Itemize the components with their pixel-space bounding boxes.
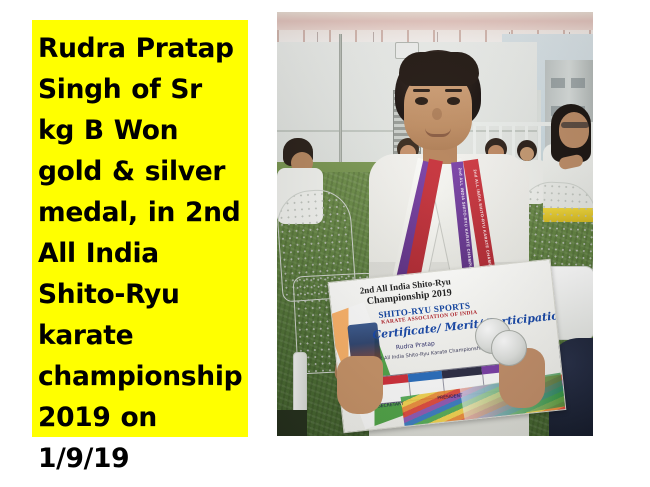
woman-face	[559, 112, 589, 148]
silver-medal	[491, 330, 527, 366]
canopy-ceiling	[277, 12, 593, 32]
certificate-recipient-name: Rudra Pratap	[396, 340, 436, 351]
boy-eyebrow	[413, 89, 430, 92]
boy-hand-left	[337, 356, 383, 414]
caption-panel: Rudra Pratap Singh of Sr kg B Won gold &…	[32, 20, 248, 437]
boy-eye	[415, 97, 428, 105]
boy-hair-fringe	[399, 52, 479, 86]
caption-text: Rudra Pratap Singh of Sr kg B Won gold &…	[38, 28, 244, 479]
table-header-cell	[408, 371, 443, 383]
boy-nose	[432, 108, 442, 120]
shadow-patch	[277, 410, 307, 436]
boy-eyebrow	[445, 89, 462, 92]
glasses-icon	[561, 122, 589, 128]
building-window	[551, 78, 565, 88]
photograph: 2nd ALL INDIA SHITO-RYU KARATE CHAMPIONS…	[277, 12, 593, 436]
building-window	[571, 78, 585, 88]
boy-eye	[447, 97, 460, 105]
background-child-face	[520, 147, 534, 161]
table-header-cell	[442, 367, 483, 379]
